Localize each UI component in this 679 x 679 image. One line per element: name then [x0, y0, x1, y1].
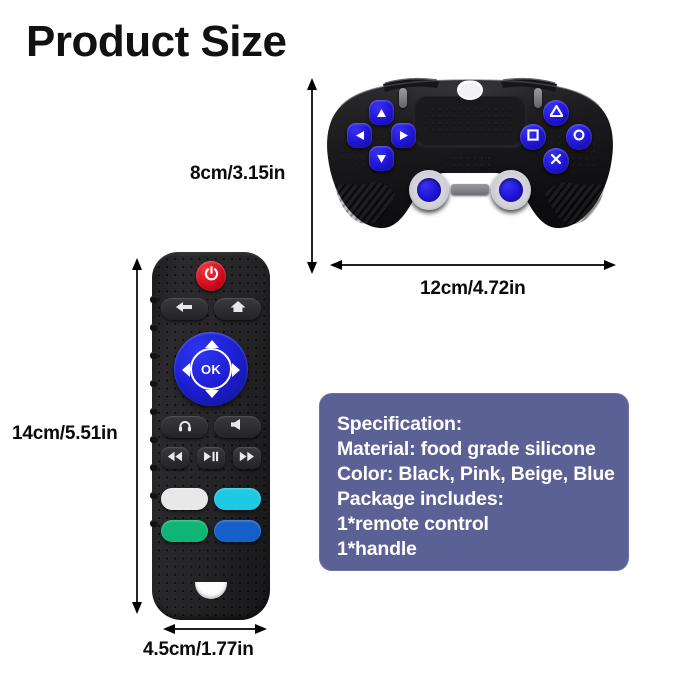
triangle-right-icon — [400, 127, 408, 145]
remote-ok-button[interactable]: OK — [174, 332, 248, 406]
remote-dpad[interactable]: OK — [174, 332, 248, 406]
spec-line-title: Specification: — [337, 412, 628, 437]
gamepad-height-label: 8cm/3.15in — [190, 163, 285, 185]
back-arrow-icon — [176, 300, 193, 318]
triangle-icon — [550, 104, 563, 122]
left-analog-stick[interactable] — [409, 170, 449, 210]
home-icon — [230, 300, 246, 318]
left-shoulder-tab — [399, 88, 407, 108]
remote-back-button[interactable] — [161, 298, 208, 320]
right-stick-cap — [499, 178, 523, 202]
spec-line-material: Material: food grade silicone — [337, 437, 628, 462]
power-icon — [204, 266, 219, 286]
product-size-infographic: Product Size — [0, 0, 679, 679]
spec-line-package: Package includes: — [337, 487, 628, 512]
square-icon — [527, 128, 539, 146]
remote-control-product-image: OK — [152, 252, 270, 620]
remote-width-arrow — [163, 622, 267, 636]
headphone-icon — [178, 418, 192, 437]
gamepad-circle-button[interactable] — [566, 124, 592, 150]
remote-play-pause-button[interactable] — [197, 447, 225, 469]
remote-width-label: 4.5cm/1.77in — [143, 639, 254, 661]
gamepad-dpad-left-button[interactable] — [347, 123, 372, 148]
spec-line-color: Color: Black, Pink, Beige, Blue — [337, 462, 628, 487]
remote-height-arrow — [130, 258, 144, 614]
triangle-left-icon — [356, 127, 364, 145]
triangle-up-icon — [377, 104, 386, 122]
gamepad-width-arrow — [330, 258, 616, 272]
page-title: Product Size — [26, 20, 287, 64]
spec-line-item-handle: 1*handle — [337, 537, 628, 562]
triangle-down-icon — [377, 150, 386, 168]
remote-rewind-button[interactable] — [161, 447, 189, 469]
remote-home-button[interactable] — [214, 298, 261, 320]
fast-forward-icon — [239, 449, 255, 467]
remote-height-label: 14cm/5.51in — [12, 423, 118, 445]
remote-headphone-button[interactable] — [161, 416, 208, 438]
speaker-mute-icon — [230, 418, 245, 436]
remote-power-button[interactable] — [196, 261, 226, 291]
rewind-icon — [167, 449, 183, 467]
gamepad-dpad-up-button[interactable] — [369, 100, 394, 125]
gamepad-dpad-down-button[interactable] — [369, 146, 394, 171]
remote-side-nubs — [150, 296, 157, 546]
remote-app-button-green[interactable] — [161, 520, 208, 542]
remote-app-button-white[interactable] — [161, 488, 208, 510]
gamepad-dpad-right-button[interactable] — [391, 123, 416, 148]
gamepad-width-label: 12cm/4.72in — [420, 278, 526, 300]
gamepad-center-bar — [451, 184, 489, 195]
play-pause-icon — [203, 449, 219, 467]
gamepad-product-image — [325, 72, 615, 232]
right-shoulder-tab — [534, 88, 542, 108]
left-stick-cap — [417, 178, 441, 202]
circle-icon — [573, 128, 585, 146]
specification-box: Specification: Material: food grade sili… — [319, 393, 629, 571]
gamepad-square-button[interactable] — [520, 124, 546, 150]
gamepad-cross-button[interactable] — [543, 148, 569, 174]
spec-line-item-remote: 1*remote control — [337, 512, 628, 537]
right-analog-stick[interactable] — [491, 170, 531, 210]
remote-app-button-blue[interactable] — [214, 520, 261, 542]
remote-fast-forward-button[interactable] — [233, 447, 261, 469]
cross-icon — [550, 152, 562, 170]
gamepad-triangle-button[interactable] — [543, 100, 569, 126]
gamepad-height-arrow — [305, 78, 319, 274]
remote-mute-button[interactable] — [214, 416, 261, 438]
remote-app-button-cyan[interactable] — [214, 488, 261, 510]
